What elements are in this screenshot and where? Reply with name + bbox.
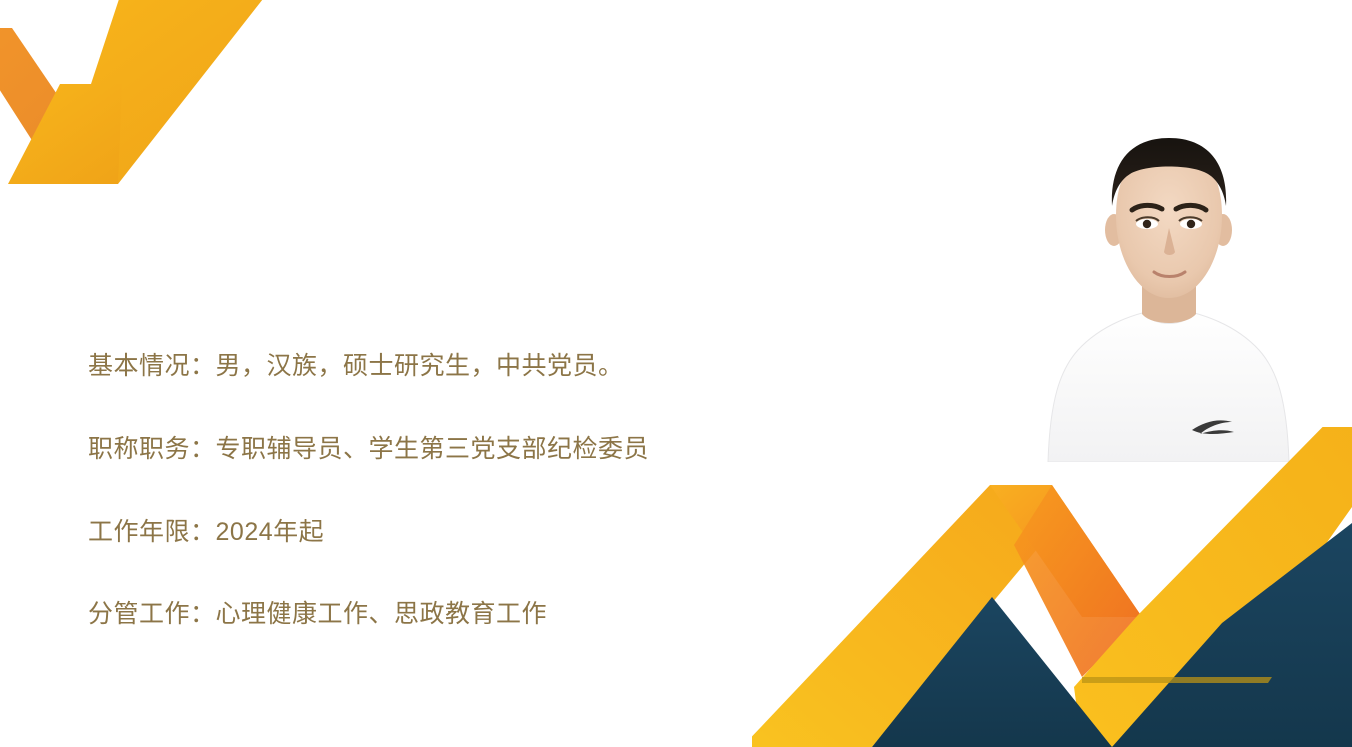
info-label-title: 职称职务： [88,435,216,463]
info-value-title: 专职辅导员、学生第三党支部纪检委员 [216,435,650,463]
zigzag-shelf-highlight [1082,677,1272,683]
info-value-years: 2024年起 [216,518,325,546]
chevron-left-arm [0,28,118,184]
chevron-checkmark-graphic [0,0,270,200]
info-line-duties: 分管工作：心理健康工作、思政教育工作 [88,600,868,629]
info-label-basic: 基本情况： [88,352,216,380]
zigzag-valley-navy-left [872,597,1112,747]
info-line-title: 职称职务：专职辅导员、学生第三党支部纪检委员 [88,435,868,464]
slide-canvas: 基本情况：男，汉族，硕士研究生，中共党员。 职称职务：专职辅导员、学生第三党支部… [0,0,1352,747]
info-value-duties: 心理健康工作、思政教育工作 [216,600,548,628]
staff-info-block: 基本情况：男，汉族，硕士研究生，中共党员。 职称职务：专职辅导员、学生第三党支部… [88,352,868,629]
info-label-years: 工作年限： [88,518,216,546]
info-value-basic: 男，汉族，硕士研究生，中共党员。 [216,352,624,380]
chevron-right-arm [58,0,270,184]
chevron-join-wedge [8,84,122,184]
info-line-years: 工作年限：2024年起 [88,518,868,547]
portrait-illustration [1042,112,1295,462]
portrait-pupil-right [1187,220,1195,228]
zigzag-peak-orange-lower [1014,485,1142,677]
staff-portrait-photo [1042,112,1295,462]
zigzag-valley-navy-right [1112,523,1352,747]
info-label-duties: 分管工作： [88,600,216,628]
zigzag-band-yellow-right [1074,427,1352,747]
zigzag-peak-orange-upper [990,485,1142,617]
chevron-checkmark-svg [0,0,270,200]
info-line-basic: 基本情况：男，汉族，硕士研究生，中共党员。 [88,352,868,381]
portrait-pupil-left [1143,220,1151,228]
